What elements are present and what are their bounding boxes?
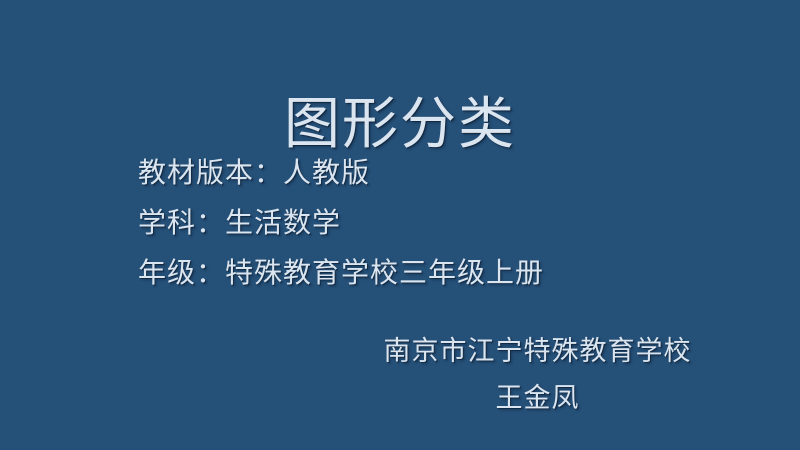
credit-presenter-name: 王金凤 (330, 375, 745, 422)
metadata-line-textbook-version: 教材版本：人教版 (138, 148, 738, 198)
presenter-credit-block: 南京市江宁特殊教育学校 王金凤 (330, 328, 745, 422)
slide-metadata-block: 教材版本：人教版 学科：生活数学 年级：特殊教育学校三年级上册 (138, 148, 738, 298)
presentation-slide: 图形分类 教材版本：人教版 学科：生活数学 年级：特殊教育学校三年级上册 南京市… (0, 0, 800, 450)
credit-school-name: 南京市江宁特殊教育学校 (330, 328, 745, 375)
metadata-line-subject: 学科：生活数学 (138, 198, 738, 248)
metadata-line-grade: 年级：特殊教育学校三年级上册 (138, 248, 738, 298)
